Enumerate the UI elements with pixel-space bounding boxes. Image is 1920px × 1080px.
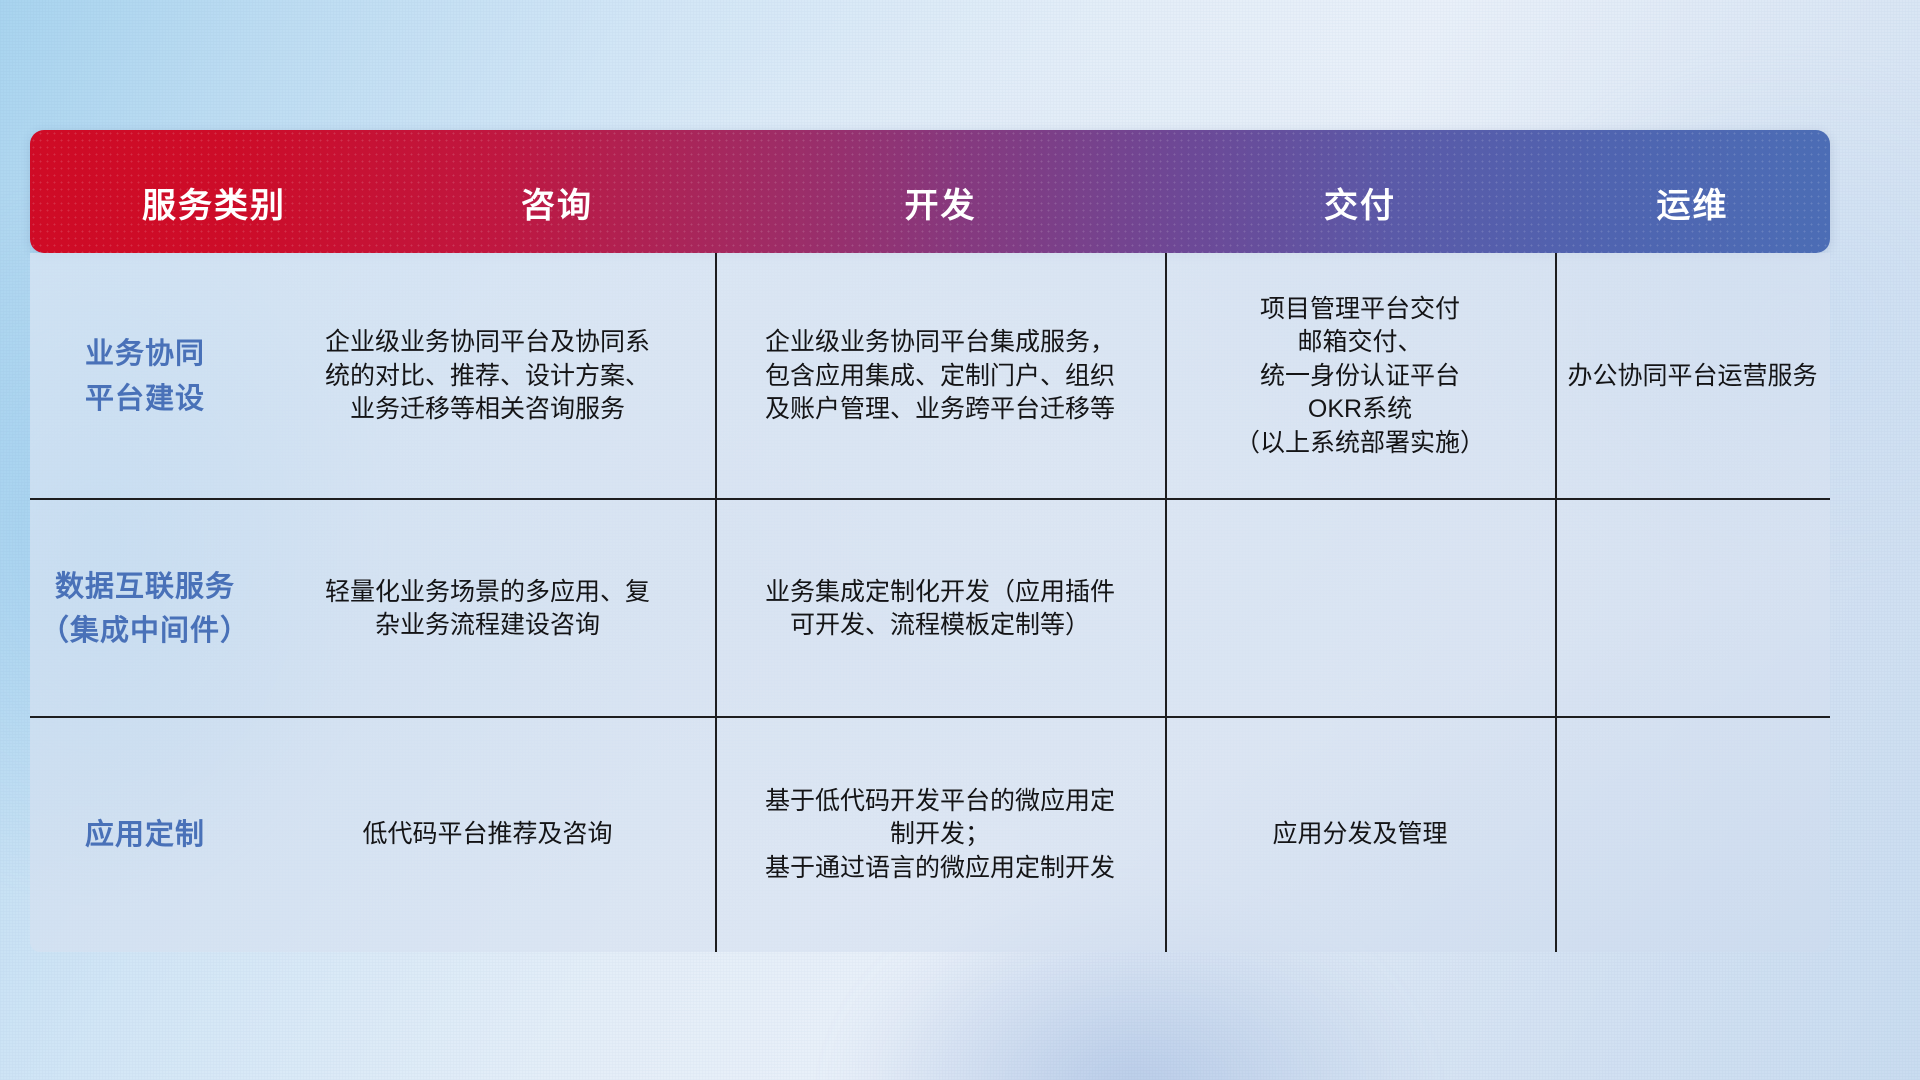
- cell-delivery: 项目管理平台交付 邮箱交付、 统一身份认证平台 OKR系统 （以上系统部署实施）: [1165, 293, 1555, 461]
- table-row: 数据互联服务 （集成中间件） 轻量化业务场景的多应用、复 杂业务流程建设咨询 业…: [30, 500, 1830, 718]
- cell-consulting: 低代码平台推荐及咨询: [260, 818, 715, 852]
- service-category-table: 服务类别 咨询 开发 交付 运维 业务协同 平台建设 企业级业务协同平台及协同系…: [30, 130, 1830, 952]
- row-category-label: 数据互联服务 （集成中间件）: [30, 565, 260, 653]
- column-header-consulting: 咨询: [398, 178, 716, 253]
- cell-operations: 办公协同平台运营服务: [1555, 360, 1830, 394]
- cell-development: 企业级业务协同平台集成服务， 包含应用集成、定制门户、组织 及账户管理、业务跨平…: [715, 326, 1165, 427]
- table-row: 应用定制 低代码平台推荐及咨询 基于低代码开发平台的微应用定 制开发； 基于通过…: [30, 718, 1830, 952]
- row-category-label: 业务协同 平台建设: [30, 332, 260, 420]
- cell-consulting: 轻量化业务场景的多应用、复 杂业务流程建设咨询: [260, 576, 715, 643]
- cell-development: 业务集成定制化开发（应用插件 可开发、流程模板定制等）: [715, 576, 1165, 643]
- column-header-development: 开发: [716, 178, 1165, 253]
- cell-consulting: 企业级业务协同平台及协同系 统的对比、推荐、设计方案、 业务迁移等相关咨询服务: [260, 326, 715, 427]
- table-header-row: 服务类别 咨询 开发 交付 运维: [30, 130, 1830, 253]
- column-header-operations: 运维: [1555, 178, 1830, 253]
- column-header-category: 服务类别: [30, 178, 398, 253]
- row-category-label: 应用定制: [30, 813, 260, 857]
- table-row: 业务协同 平台建设 企业级业务协同平台及协同系 统的对比、推荐、设计方案、 业务…: [30, 253, 1830, 500]
- column-header-delivery: 交付: [1165, 178, 1555, 253]
- table-body: 业务协同 平台建设 企业级业务协同平台及协同系 统的对比、推荐、设计方案、 业务…: [30, 253, 1830, 952]
- cell-delivery: 应用分发及管理: [1165, 818, 1555, 852]
- cell-development: 基于低代码开发平台的微应用定 制开发； 基于通过语言的微应用定制开发: [715, 785, 1165, 886]
